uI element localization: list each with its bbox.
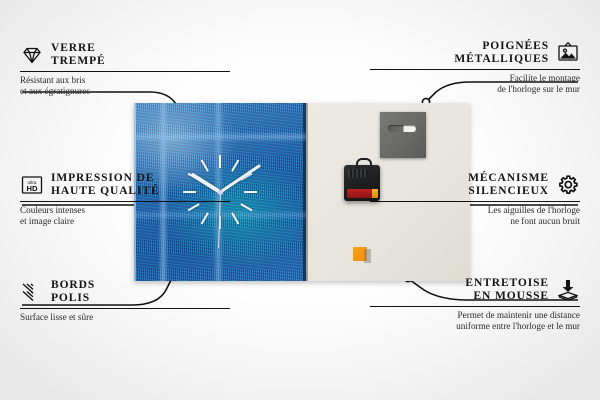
callout-title-line2: POLIS	[51, 292, 95, 305]
callout-desc-line2: de l'horloge sur le mur	[370, 84, 580, 95]
callout-desc-line1: Permet de maintenir une distance	[370, 310, 580, 321]
callout-desc-line2: uniforme entre l'horloge et le mur	[370, 321, 580, 332]
callout-desc-line1: Surface lisse et sûre	[20, 312, 230, 323]
mechanism-vent	[348, 169, 368, 178]
hanger-keyhole-slot	[388, 125, 416, 132]
callout-header: ultra HD IMPRESSION DE HAUTE QUALITÉ	[20, 172, 230, 198]
polished-edges-icon	[20, 280, 44, 304]
picture-frame-icon	[556, 41, 580, 65]
callout-header: BORDS POLIS	[20, 279, 230, 305]
callout-desc-line1: Couleurs intenses	[20, 205, 230, 216]
callout-description: Surface lisse et sûre	[20, 312, 230, 323]
callout-header: MÉCANISME SILENCIEUX	[370, 172, 580, 198]
svg-text:HD: HD	[27, 184, 38, 193]
callout-header: VERRE TREMPÉ	[20, 42, 230, 68]
callout-entretoise-en-mousse: ENTRETOISE EN MOUSSE Permet de maintenir…	[370, 277, 580, 332]
callout-divider	[370, 201, 580, 202]
callout-description: Facilite le montage de l'horloge sur le …	[370, 73, 580, 95]
callout-divider	[370, 69, 580, 70]
callout-desc-line2: et aux égratignures	[20, 86, 230, 97]
callout-title-line1: VERRE	[51, 42, 106, 55]
callout-title-line2: EN MOUSSE	[465, 290, 549, 303]
callout-bords-polis: BORDS POLIS Surface lisse et sûre	[20, 279, 230, 323]
infographic-canvas: VERRE TREMPÉ Résistant aux bris et aux é…	[0, 0, 600, 400]
gear-icon	[556, 173, 580, 197]
callout-title: BORDS POLIS	[51, 279, 95, 305]
callout-title: MÉCANISME SILENCIEUX	[468, 172, 549, 198]
ultra-hd-icon: ultra HD	[20, 173, 44, 197]
callout-impression-haute-qualite: ultra HD IMPRESSION DE HAUTE QUALITÉ Cou…	[20, 172, 230, 227]
callout-header: ENTRETOISE EN MOUSSE	[370, 277, 580, 303]
diamond-icon	[20, 43, 44, 67]
callout-title: IMPRESSION DE HAUTE QUALITÉ	[51, 172, 160, 198]
callout-mecanisme-silencieux: MÉCANISME SILENCIEUX Les aiguilles de l'…	[370, 172, 580, 227]
callout-title-line1: BORDS	[51, 279, 95, 292]
callout-desc-line2: et image claire	[20, 216, 230, 227]
callout-divider	[20, 71, 230, 72]
callout-description: Les aiguilles de l'horloge ne font aucun…	[370, 205, 580, 227]
foam-spacer-icon	[556, 278, 580, 302]
callout-desc-line2: ne font aucun bruit	[370, 216, 580, 227]
callout-desc-line1: Résistant aux bris	[20, 75, 230, 86]
callout-divider	[20, 201, 230, 202]
metal-hanger-plate	[380, 112, 426, 158]
foam-spacer	[353, 247, 367, 261]
callout-title-line1: MÉCANISME	[468, 172, 549, 185]
callout-description: Permet de maintenir une distance uniform…	[370, 310, 580, 332]
callout-header: POIGNÉES MÉTALLIQUES	[370, 40, 580, 66]
callout-title-line1: ENTRETOISE	[465, 277, 549, 290]
callout-title-line1: POIGNÉES	[454, 40, 549, 53]
callout-poignees-metalliques: POIGNÉES MÉTALLIQUES Facilite le montage…	[370, 40, 580, 95]
callout-title-line2: SILENCIEUX	[468, 185, 549, 198]
callout-title-line2: HAUTE QUALITÉ	[51, 185, 160, 198]
callout-desc-line1: Facilite le montage	[370, 73, 580, 84]
callout-title: POIGNÉES MÉTALLIQUES	[454, 40, 549, 66]
callout-title-line1: IMPRESSION DE	[51, 172, 160, 185]
callout-title: ENTRETOISE EN MOUSSE	[465, 277, 549, 303]
callout-title-line2: TREMPÉ	[51, 55, 106, 68]
callout-description: Couleurs intenses et image claire	[20, 205, 230, 227]
callout-title-line2: MÉTALLIQUES	[454, 53, 549, 66]
callout-desc-line1: Les aiguilles de l'horloge	[370, 205, 580, 216]
callout-divider	[20, 308, 230, 309]
callout-description: Résistant aux bris et aux égratignures	[20, 75, 230, 97]
callout-title: VERRE TREMPÉ	[51, 42, 106, 68]
callout-verre-trempe: VERRE TREMPÉ Résistant aux bris et aux é…	[20, 42, 230, 97]
callout-divider	[370, 306, 580, 307]
hanging-hook-icon	[356, 158, 372, 169]
